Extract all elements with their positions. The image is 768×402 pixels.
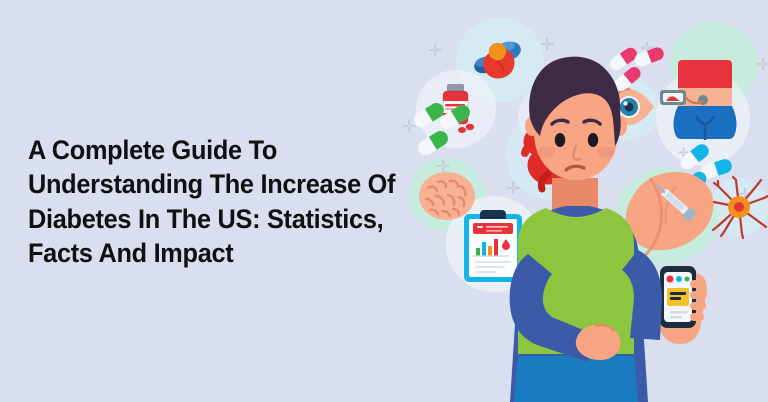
- title-block: A Complete Guide To Understanding The In…: [28, 133, 428, 271]
- article-header-banner: A Complete Guide To Understanding The In…: [0, 0, 768, 402]
- page-title: A Complete Guide To Understanding The In…: [28, 133, 410, 271]
- diabetes-awareness-illustration: ✛ ✛ ✛ ✛ ✛ ✛ ✛ ✛ ✛ ✛ ✛ ✛ ✛ ✛: [400, 0, 768, 402]
- worried-young-man: [400, 0, 768, 402]
